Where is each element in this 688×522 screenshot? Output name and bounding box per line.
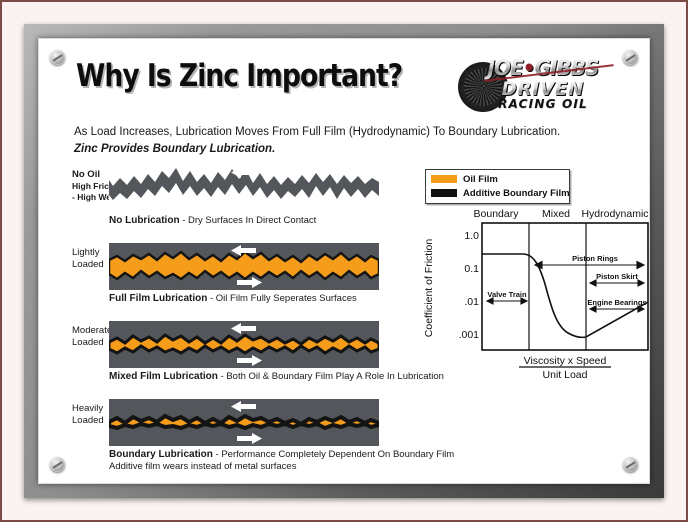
- screw-icon: [623, 457, 638, 472]
- chart-annotation-valve-train: Valve Train: [487, 290, 527, 299]
- chart-zone-label-hydrodynamic: Hydrodynamic: [581, 208, 648, 220]
- screw-icon: [50, 457, 65, 472]
- regime-block-full-film: Lightly Loaded Full Film Lu: [38, 241, 418, 319]
- metal-frame: Why Is Zinc Important? JOE•GIBBS DRIVEN …: [24, 24, 664, 498]
- chart-zone-label-boundary: Boundary: [474, 208, 520, 220]
- chart-x-axis-label-line1: Viscosity x Speed: [524, 355, 607, 367]
- chart-y-axis-title: Coefficient of Friction: [423, 239, 435, 338]
- intro-text: As Load Increases, Lubrication Moves Fro…: [74, 124, 644, 159]
- stribeck-curve-chart: Boundary Mixed Hydrodynamic Coefficient …: [423, 206, 658, 381]
- chart-y-tick-1: 1.0: [464, 230, 479, 242]
- page-title: Why Is Zinc Important?: [76, 58, 402, 94]
- logo-line-3: RACING OIL: [454, 97, 632, 111]
- chart-annotation-piston-skirt: Piston Skirt: [596, 272, 638, 281]
- surface-strip-full-film: [109, 243, 379, 290]
- chart-annotation-piston-rings: Piston Rings: [572, 254, 618, 263]
- chart-y-tick-4: .001: [459, 329, 480, 341]
- lubrication-regime-diagram: No Oil High Friction - High Wear: [38, 163, 418, 475]
- regime-block-mixed-film: Moderate Loaded Mixed Film: [38, 319, 418, 397]
- legend-label-additive-boundary-film: Additive Boundary Film: [463, 188, 570, 199]
- regime-caption-full-film: Full Film Lubrication - Oil Film Fully S…: [109, 293, 409, 304]
- legend-swatch-additive-boundary-film: [431, 189, 457, 197]
- legend-item-oil-film: Oil Film: [431, 173, 564, 185]
- brand-logo: JOE•GIBBS DRIVEN RACING OIL: [454, 48, 632, 114]
- regime-caption-boundary: Boundary Lubrication - Performance Compl…: [109, 449, 409, 460]
- surface-strip-mixed-film: [109, 321, 379, 368]
- slide-canvas: Why Is Zinc Important? JOE•GIBBS DRIVEN …: [38, 38, 650, 484]
- chart-annotation-engine-bearings: Engine Bearings: [587, 298, 646, 307]
- regime-caption-mixed-film: Mixed Film Lubrication - Both Oil & Boun…: [109, 371, 409, 382]
- legend: Oil Film Additive Boundary Film: [425, 169, 570, 204]
- screw-icon: [50, 50, 65, 65]
- screw-icon: [623, 50, 638, 65]
- legend-swatch-oil-film: [431, 175, 457, 183]
- regime-caption-no-lubrication: No Lubrication - Dry Surfaces In Direct …: [109, 215, 409, 226]
- legend-item-additive-boundary-film: Additive Boundary Film: [431, 187, 564, 199]
- surface-strip-boundary: [109, 399, 379, 446]
- regime-block-boundary: Heavily Loaded Boundary Lub: [38, 397, 418, 475]
- chart-y-tick-3: .01: [464, 296, 479, 308]
- chart-y-tick-2: 0.1: [464, 263, 479, 275]
- chart-zone-label-mixed: Mixed: [542, 208, 570, 220]
- legend-label-oil-film: Oil Film: [463, 174, 498, 185]
- chart-x-axis-label-line2: Unit Load: [543, 369, 588, 381]
- surface-strip-no-lubrication: [109, 165, 379, 212]
- slide-root: Why Is Zinc Important? JOE•GIBBS DRIVEN …: [0, 0, 688, 522]
- intro-line-1: As Load Increases, Lubrication Moves Fro…: [74, 124, 644, 141]
- regime-caption-boundary-extra: Additive film wears instead of metal sur…: [109, 461, 296, 472]
- intro-line-2: Zinc Provides Boundary Lubrication.: [74, 141, 644, 158]
- regime-block-no-lubrication: No Oil High Friction - High Wear: [38, 163, 418, 241]
- logo-line-1: JOE•GIBBS: [458, 56, 627, 80]
